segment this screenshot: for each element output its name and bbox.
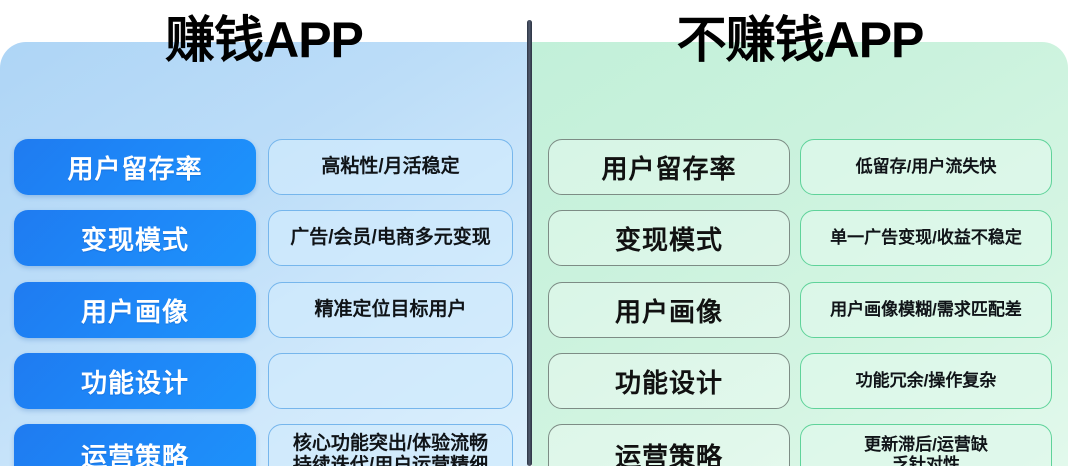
right-row-label-4[interactable]: 运营策略: [548, 424, 790, 466]
table-row: 功能设计 功能冗余/操作复杂: [532, 353, 1068, 409]
left-panel-monetizing-app: 用户留存率 高粘性/月活稳定 变现模式 广告/会员/电商多元变现 用户画像 精准…: [0, 42, 528, 466]
table-row: 用户留存率 低留存/用户流失快: [532, 139, 1068, 195]
right-row-value-3[interactable]: 功能冗余/操作复杂: [800, 353, 1052, 409]
left-row-value-3[interactable]: [268, 353, 513, 409]
right-row-value-1[interactable]: 单一广告变现/收益不稳定: [800, 210, 1052, 266]
left-row-value-text-2: 精准定位目标用户: [308, 299, 472, 321]
comparison-infographic: 用户留存率 高粘性/月活稳定 变现模式 广告/会员/电商多元变现 用户画像 精准…: [0, 0, 1068, 466]
table-row: 变现模式 广告/会员/电商多元变现: [0, 210, 528, 266]
left-panel-title: 赚钱APP: [0, 8, 528, 72]
table-row: 功能设计: [0, 353, 528, 409]
right-row-label-0[interactable]: 用户留存率: [548, 139, 790, 195]
right-row-value-text-4: 更新滞后/运营缺 乏针对性: [858, 435, 994, 466]
right-row-label-2[interactable]: 用户画像: [548, 282, 790, 338]
right-panel-non-monetizing-app: 用户留存率 低留存/用户流失快 变现模式 单一广告变现/收益不稳定 用户画像 用…: [532, 42, 1068, 466]
right-row-label-1[interactable]: 变现模式: [548, 210, 790, 266]
left-row-label-3[interactable]: 功能设计: [14, 353, 256, 409]
left-row-value-1[interactable]: 广告/会员/电商多元变现: [268, 210, 513, 266]
right-panel-rows: 用户留存率 低留存/用户流失快 变现模式 单一广告变现/收益不稳定 用户画像 用…: [532, 97, 1068, 466]
right-row-label-3[interactable]: 功能设计: [548, 353, 790, 409]
left-panel-rows: 用户留存率 高粘性/月活稳定 变现模式 广告/会员/电商多元变现 用户画像 精准…: [0, 97, 528, 466]
left-row-value-text-0: 高粘性/月活稳定: [315, 156, 465, 178]
panel-divider: [527, 20, 532, 466]
left-row-label-2[interactable]: 用户画像: [14, 282, 256, 338]
right-row-value-text-2: 用户画像模糊/需求匹配差: [824, 300, 1028, 320]
right-row-value-0[interactable]: 低留存/用户流失快: [800, 139, 1052, 195]
right-panel-title: 不赚钱APP: [532, 8, 1068, 72]
left-row-value-text-4: 核心功能突出/体验流畅 持续迭代/用户运营精细: [287, 433, 494, 466]
right-row-value-text-1: 单一广告变现/收益不稳定: [824, 228, 1028, 248]
right-row-value-2[interactable]: 用户画像模糊/需求匹配差: [800, 282, 1052, 338]
left-row-value-text-1: 广告/会员/电商多元变现: [284, 227, 497, 249]
right-row-value-text-0: 低留存/用户流失快: [850, 157, 1003, 177]
left-row-value-0[interactable]: 高粘性/月活稳定: [268, 139, 513, 195]
left-row-label-4[interactable]: 运营策略: [14, 424, 256, 466]
table-row: 运营策略 核心功能突出/体验流畅 持续迭代/用户运营精细: [0, 424, 528, 466]
table-row: 用户画像 精准定位目标用户: [0, 282, 528, 338]
right-row-value-text-3: 功能冗余/操作复杂: [850, 371, 1003, 391]
left-row-label-0[interactable]: 用户留存率: [14, 139, 256, 195]
table-row: 用户留存率 高粘性/月活稳定: [0, 139, 528, 195]
table-row: 用户画像 用户画像模糊/需求匹配差: [532, 282, 1068, 338]
table-row: 变现模式 单一广告变现/收益不稳定: [532, 210, 1068, 266]
left-row-label-1[interactable]: 变现模式: [14, 210, 256, 266]
left-row-value-4[interactable]: 核心功能突出/体验流畅 持续迭代/用户运营精细: [268, 424, 513, 466]
left-row-value-2[interactable]: 精准定位目标用户: [268, 282, 513, 338]
table-row: 运营策略 更新滞后/运营缺 乏针对性: [532, 424, 1068, 466]
right-row-value-4[interactable]: 更新滞后/运营缺 乏针对性: [800, 424, 1052, 466]
